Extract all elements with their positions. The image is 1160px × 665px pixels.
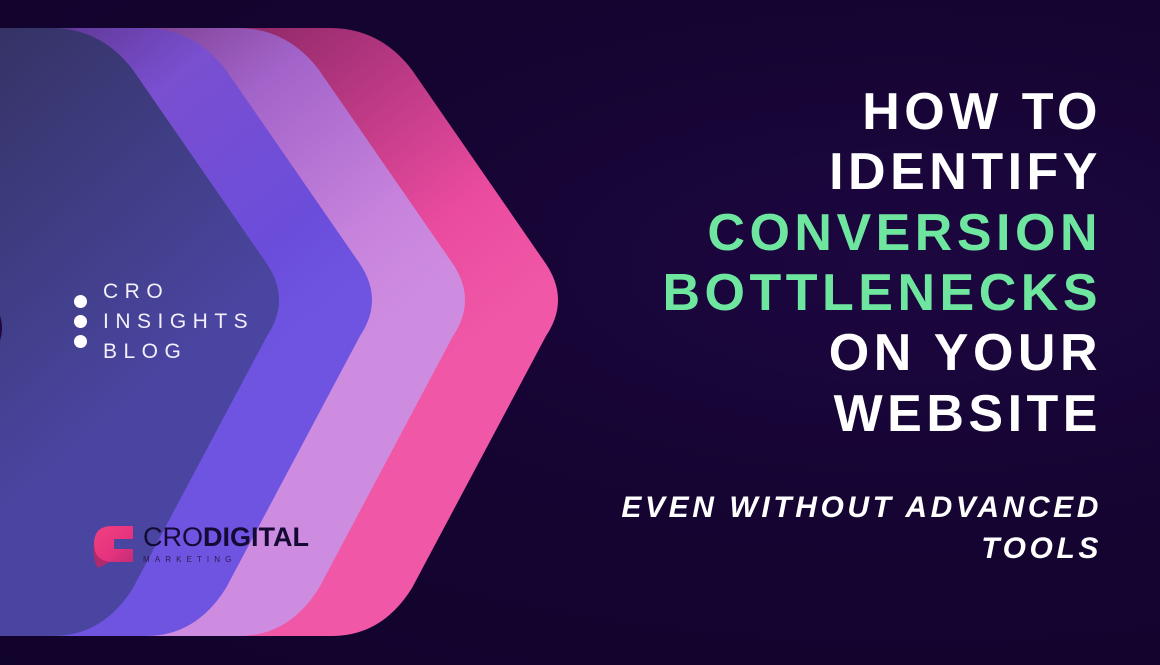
headline-line-2: IDENTIFY <box>462 142 1102 202</box>
crodigital-logo: CRODIGITAL MARKETING <box>92 518 309 570</box>
headline-line-3: CONVERSION <box>462 203 1102 263</box>
logo-word-digital: DIGITAL <box>203 522 309 552</box>
page-subtitle: EVEN WITHOUT ADVANCED TOOLS <box>462 487 1102 569</box>
headline-line-5: ON YOUR <box>462 323 1102 383</box>
crodigital-word: CRODIGITAL <box>143 524 309 551</box>
dot-icon <box>74 295 87 308</box>
subhead-line-1: EVEN WITHOUT ADVANCED <box>462 487 1102 528</box>
subhead-line-2: TOOLS <box>462 528 1102 569</box>
three-dots-icon <box>74 295 87 348</box>
crodigital-c-mark-icon <box>92 518 134 570</box>
logo-word-cro: CRO <box>143 522 203 552</box>
crodigital-wordmark: CRODIGITAL MARKETING <box>143 524 309 564</box>
page-title: HOW TO IDENTIFY CONVERSION BOTTLENECKS O… <box>462 82 1102 444</box>
blogmark-line-3: BLOG <box>103 338 254 366</box>
cro-insights-blog-mark: CRO INSIGHTS BLOG <box>74 278 254 366</box>
logo-subtitle-marketing: MARKETING <box>143 555 309 564</box>
cro-insights-blog-wordmark: CRO INSIGHTS BLOG <box>103 278 254 366</box>
headline-line-4: BOTTLENECKS <box>462 263 1102 323</box>
blogmark-line-2: INSIGHTS <box>103 308 254 336</box>
dot-icon <box>74 335 87 348</box>
headline-line-1: HOW TO <box>462 82 1102 142</box>
dot-icon <box>74 315 87 328</box>
headline-line-6: WEBSITE <box>462 384 1102 444</box>
banner-canvas: CRO INSIGHTS BLOG CRODIGITAL MARKETING <box>0 0 1160 665</box>
blogmark-line-1: CRO <box>103 278 254 306</box>
